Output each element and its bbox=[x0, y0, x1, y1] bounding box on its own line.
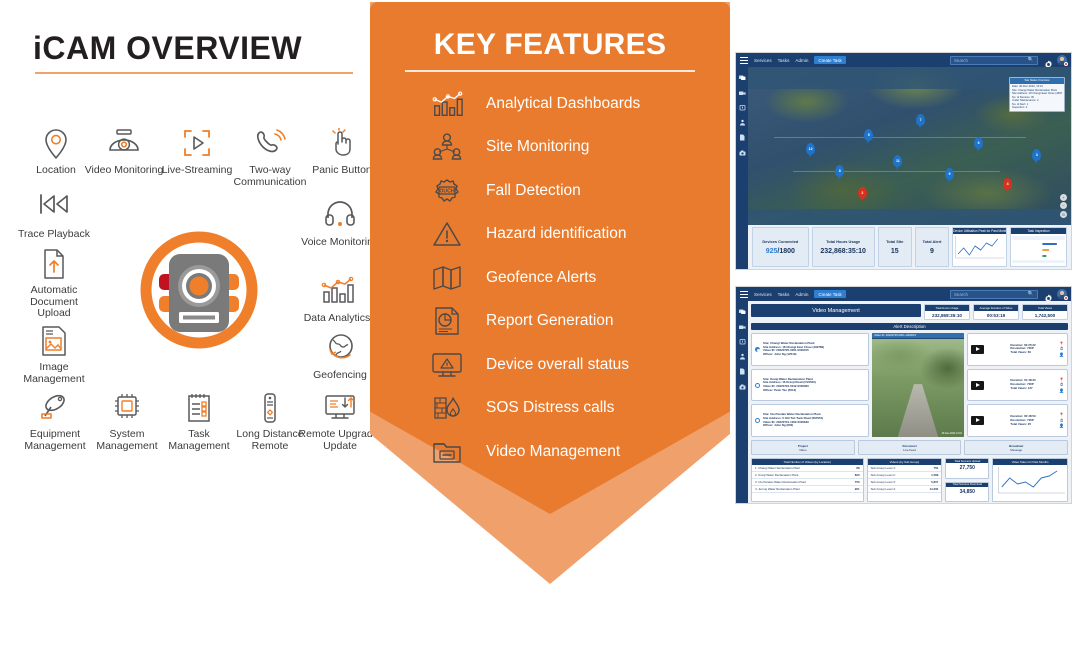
play-button[interactable] bbox=[971, 345, 984, 354]
feature-label: Equipment Management bbox=[24, 428, 85, 452]
button-line-2: Message bbox=[1010, 448, 1022, 452]
video-sidebar bbox=[736, 301, 748, 504]
video-meta-text: Duration: 00:48:59 Resolution: 720P Tota… bbox=[1010, 415, 1035, 426]
feature-label: Panic Button bbox=[312, 164, 372, 176]
create-task-button[interactable]: Create Task bbox=[814, 290, 845, 298]
action-button-row: Project Video Personnel Live Feed Broadc… bbox=[751, 440, 1068, 455]
warning-triangle-icon bbox=[430, 217, 464, 251]
screenshot-video-management: Services Tasks Admin Create Task Search … bbox=[735, 286, 1072, 504]
magnifier-icon: 🔍 bbox=[1028, 57, 1034, 63]
feature-label: Video Monitoring bbox=[85, 164, 164, 176]
avatar[interactable] bbox=[1057, 55, 1067, 65]
video-meta-list: Duration: 00:25:32 Resolution: 720P Tota… bbox=[967, 333, 1068, 437]
stat-total-site: Total Site 15 bbox=[878, 227, 912, 267]
button-line-2: Video bbox=[799, 448, 806, 452]
feature-automatic-document-upload: Automatic Document Upload bbox=[12, 248, 96, 320]
bottom-panels: Total Number of Videos (by Location) 1. … bbox=[751, 458, 1068, 502]
video-player[interactable]: Video ID: 20220725-0001-1000015 30-Dec-2… bbox=[872, 333, 964, 437]
stat-label: Devices Connected bbox=[762, 239, 798, 244]
key-feature-label: Hazard identification bbox=[486, 225, 626, 243]
alert-officer: Officer: Peter Tao (5012) bbox=[763, 388, 796, 392]
document-icon[interactable] bbox=[736, 130, 748, 145]
alert-officer: Officer: John Ng (12519) bbox=[763, 352, 796, 356]
key-feature-label: Analytical Dashboards bbox=[486, 95, 640, 113]
map-road-2 bbox=[793, 171, 1000, 172]
nav-link-tasks[interactable]: Tasks bbox=[778, 292, 790, 297]
nav-link-services[interactable]: Services bbox=[754, 292, 772, 297]
video-meta-text: Duration: 00:25:32 Resolution: 720P Tota… bbox=[1010, 344, 1035, 355]
utilisation-sparkline bbox=[953, 234, 1006, 264]
feature-label: Two-way Communication bbox=[234, 164, 307, 188]
alert-details: Site: Kranji Water Reclamation Plant Sit… bbox=[763, 378, 816, 393]
clock-icon[interactable]: ⏱ bbox=[1060, 383, 1063, 387]
key-feature-label: Video Management bbox=[486, 443, 620, 461]
row-name: Sub-Group Level 1: bbox=[871, 466, 896, 470]
user-icon[interactable]: 👤 bbox=[1059, 389, 1064, 393]
popup-row: Site Address: 18 Changi East Close (4997… bbox=[1012, 92, 1062, 96]
map-body: 128511796432 Site Status Overview Date: … bbox=[736, 67, 1071, 270]
overview-panel: iCAM OVERVIEW Location Video Monitoring … bbox=[0, 0, 372, 648]
key-feature-geofence-alerts: Geofence Alerts bbox=[370, 256, 730, 300]
kpi-total-hours-usage: Total Hours Usage 232,868:35:10 bbox=[924, 304, 970, 320]
clock-icon[interactable]: ⏱ bbox=[1060, 347, 1063, 351]
document-upload-icon bbox=[12, 248, 96, 282]
feature-label: Remote Upgrade/ Update bbox=[299, 428, 382, 452]
user-icon[interactable]: 👤 bbox=[1059, 424, 1064, 428]
alert-officer: Officer: John Ng (600) bbox=[763, 423, 793, 427]
camera-icon[interactable] bbox=[736, 379, 748, 394]
broadcast-message-button[interactable]: Broadcast Message bbox=[964, 440, 1068, 455]
feature-live-streaming: Live-Streaming bbox=[155, 128, 239, 177]
feature-label: System Management bbox=[96, 428, 157, 452]
kpi-value: 34,850 bbox=[946, 487, 988, 495]
user-icon[interactable]: 👤 bbox=[1059, 353, 1064, 357]
key-feature-device-overall-status: Device overall status bbox=[370, 343, 730, 387]
video-meta-card: Duration: 00:48:59 Resolution: 720P Tota… bbox=[967, 404, 1068, 437]
notification-badge bbox=[1064, 296, 1068, 300]
image-document-icon bbox=[12, 325, 96, 359]
panel-device-utilisation: Device Utilisation Peak for Past Months bbox=[952, 227, 1007, 267]
folded-map-icon bbox=[430, 261, 464, 295]
map-top-nav: Services Tasks Admin Create Task Search … bbox=[736, 53, 1071, 67]
map-canvas[interactable]: 128511796432 Site Status Overview Date: … bbox=[748, 67, 1071, 225]
map-zoom-out-button[interactable]: − bbox=[1060, 202, 1067, 209]
radio-button[interactable] bbox=[755, 383, 760, 388]
video-top-nav: Services Tasks Admin Create Task Search … bbox=[736, 287, 1071, 301]
video-taken-sparkline bbox=[993, 465, 1067, 499]
location-pin-icon[interactable]: 📍 bbox=[1059, 413, 1064, 417]
feature-label: Geofencing bbox=[313, 369, 367, 381]
video-header-row: Video Management Total Hours Usage 232,8… bbox=[748, 301, 1071, 323]
feature-label: Data Analytics bbox=[304, 312, 371, 324]
row-value: 750 bbox=[933, 466, 938, 470]
table-row: 3. Ulu Pandan Water Reclamation Plant756 bbox=[752, 479, 863, 486]
table-videos-by-subgroup: Videos (by Sub-Group) Sub-Group Level 1:… bbox=[867, 458, 943, 502]
page-title: Video Management bbox=[751, 304, 921, 317]
table-row: 2. Kranji Water Reclamation Plant820 bbox=[752, 472, 863, 479]
video-body: Video Management Total Hours Usage 232,8… bbox=[736, 301, 1071, 504]
nav-link-tasks[interactable]: Tasks bbox=[778, 58, 790, 63]
kpi-total-success-download: Total Success Download 34,850 bbox=[945, 482, 989, 503]
map-pin[interactable]: 2 bbox=[858, 187, 867, 199]
map-road-1 bbox=[774, 137, 1026, 138]
kpi-value: 00:53:19 bbox=[974, 311, 1018, 319]
avatar[interactable] bbox=[1057, 289, 1067, 299]
page-title: iCAM OVERVIEW bbox=[33, 30, 302, 67]
stat-value: 15 bbox=[891, 248, 899, 255]
avatar-head bbox=[1060, 57, 1064, 61]
video-timestamp: 30-Dec-2022 13:01 bbox=[942, 432, 962, 435]
feature-label: Voice Monitoring bbox=[301, 236, 379, 248]
map-sidebar bbox=[736, 67, 748, 270]
table-row: Sub-Group Level 2:1,589 bbox=[868, 472, 942, 479]
key-feature-analytical-dashboards: Analytical Dashboards bbox=[370, 82, 730, 126]
personnel-live-feed-button[interactable]: Personnel Live Feed bbox=[858, 440, 962, 455]
key-feature-video-management: Video Management bbox=[370, 430, 730, 474]
kpi-total-views: Total Views 1,742,500 bbox=[1022, 304, 1068, 320]
location-pin-icon[interactable]: 📍 bbox=[1059, 378, 1064, 382]
kpi-value: 1,742,500 bbox=[1023, 311, 1067, 319]
search-input[interactable]: Search 🔍 bbox=[950, 56, 1038, 65]
key-feature-report-generation: Report Generation bbox=[370, 300, 730, 344]
row-name: Sub-Group Level 2: bbox=[871, 473, 896, 477]
stat-label: Total Alert bbox=[923, 239, 942, 244]
radio-button[interactable] bbox=[755, 418, 760, 423]
row-value: 1,589 bbox=[931, 473, 938, 477]
stat-total-hours-usage: Total Hours Usage 232,868:35:10 bbox=[812, 227, 875, 267]
nav-link-admin[interactable]: Admin bbox=[795, 292, 808, 297]
map-locate-button[interactable]: ⊙ bbox=[1060, 211, 1067, 218]
row-value: 901 bbox=[855, 487, 860, 491]
map-pin[interactable]: 7 bbox=[916, 114, 925, 126]
alert-details: Site: Changi Water Reclamation Plant Sit… bbox=[763, 342, 824, 357]
row-value: 756 bbox=[855, 480, 860, 484]
feature-video-monitoring: Video Monitoring bbox=[82, 128, 166, 177]
kpi-value: 232,868:35:10 bbox=[925, 311, 969, 319]
key-feature-label: Report Generation bbox=[486, 312, 614, 330]
map-pin[interactable]: 12 bbox=[806, 143, 815, 155]
key-feature-sos-distress-calls: SOS Distress calls bbox=[370, 387, 730, 431]
map-zoom-in-button[interactable]: + bbox=[1060, 194, 1067, 201]
chat-icon[interactable] bbox=[736, 304, 748, 319]
create-task-button[interactable]: Create Task bbox=[814, 56, 845, 64]
ouch-impact-icon: OUCH bbox=[430, 174, 464, 208]
feature-label: Image Management bbox=[23, 361, 84, 385]
popup-body: Date: 30-Dec-2022, 13:01 Site: Changi Wa… bbox=[1010, 84, 1064, 112]
alert-box-icon[interactable] bbox=[736, 100, 748, 115]
inspection-table-graphic bbox=[1011, 234, 1066, 264]
video-views: Total Views: 25 bbox=[1010, 422, 1031, 426]
popup-row: Inspection: 2 bbox=[1012, 106, 1062, 110]
video-player-header: Video ID: 20220725-0001-1000015 bbox=[872, 333, 964, 338]
alert-description-header: Alert Description bbox=[751, 323, 1068, 330]
feature-label: Long Distance Remote bbox=[236, 428, 303, 452]
video-views: Total Views: 60 bbox=[1010, 350, 1031, 354]
fire-wall-icon bbox=[430, 391, 464, 425]
stat-value: 9 bbox=[930, 248, 934, 255]
video-meta-icons: 📍 ⏱ 👤 bbox=[1059, 413, 1064, 428]
key-feature-label: Geofence Alerts bbox=[486, 269, 596, 287]
gear-icon[interactable] bbox=[1044, 56, 1053, 65]
video-meta-icons: 📍 ⏱ 👤 bbox=[1059, 342, 1064, 357]
nav-link-services[interactable]: Services bbox=[754, 58, 772, 63]
row-name: Sub-Group Level 3: bbox=[871, 480, 896, 484]
feature-trace-playback: Trace Playback bbox=[12, 192, 96, 241]
video-road bbox=[898, 384, 938, 437]
row-name: Sub-Group Level 4: bbox=[871, 487, 896, 491]
table-row: 4. Jurong Water Reclamation Plant901 bbox=[752, 486, 863, 493]
feature-label: Trace Playback bbox=[18, 228, 90, 240]
location-pin-icon[interactable]: 📍 bbox=[1059, 342, 1064, 346]
table-videos-by-location: Total Number of Videos (by Location) 1. … bbox=[751, 458, 864, 502]
key-feature-label: SOS Distress calls bbox=[486, 399, 614, 417]
kpi-average-duration: Average Duration of Video 00:53:19 bbox=[973, 304, 1019, 320]
alert-list: Site: Changi Water Reclamation Plant Sit… bbox=[751, 333, 869, 437]
rewind-icon bbox=[12, 192, 96, 226]
chat-icon[interactable] bbox=[736, 70, 748, 85]
panel-video-taken-chart: Video Taken for Past Months bbox=[992, 458, 1068, 502]
camera-video-icon[interactable] bbox=[736, 85, 748, 100]
row-name: 3. Ulu Pandan Water Reclamation Plant bbox=[755, 480, 806, 484]
map-pin[interactable]: 8 bbox=[835, 165, 844, 177]
stat-value: 232,868:35:10 bbox=[820, 248, 866, 255]
key-feature-label: Device overall status bbox=[486, 356, 629, 374]
camera-icon[interactable] bbox=[736, 145, 748, 160]
row-value: 820 bbox=[855, 473, 860, 477]
bar-chart-line-icon bbox=[298, 276, 376, 310]
feature-image-management: Image Management bbox=[12, 325, 96, 385]
table-row: 1. Changi Water Reclamation Plant88 bbox=[752, 465, 863, 472]
alert-details: Site: Ulu Pandan Water Reclamation Plant… bbox=[763, 413, 823, 428]
stat-total-alert: Total Alert 9 bbox=[915, 227, 949, 267]
user-lock-icon[interactable] bbox=[736, 115, 748, 130]
screenshot-map-dashboard: Services Tasks Admin Create Task Search … bbox=[735, 52, 1072, 270]
key-features-list: Analytical Dashboards Site Monitoring OU… bbox=[370, 82, 730, 474]
row-name: 1. Changi Water Reclamation Plant bbox=[755, 466, 800, 470]
table-row: Sub-Group Level 1:750 bbox=[868, 465, 942, 472]
alert-main-area: Site: Changi Water Reclamation Plant Sit… bbox=[751, 333, 1068, 437]
title-underline bbox=[35, 72, 353, 74]
map-stats-row: Devices Connected 925/1800 Total Hours U… bbox=[752, 227, 1067, 267]
key-feature-fall-detection: OUCH Fall Detection bbox=[370, 169, 730, 213]
project-video-button[interactable]: Project Video bbox=[751, 440, 855, 455]
search-placeholder: Search bbox=[954, 292, 968, 297]
key-feature-label: Fall Detection bbox=[486, 182, 581, 200]
notification-badge bbox=[1064, 62, 1068, 66]
map-pin[interactable]: 9 bbox=[945, 168, 954, 180]
map-pin[interactable]: 6 bbox=[974, 137, 983, 149]
kpi-value: 27,750 bbox=[946, 463, 988, 471]
row-name: 2. Kranji Water Reclamation Plant bbox=[755, 473, 798, 477]
feature-label: Live-Streaming bbox=[162, 164, 233, 176]
monitor-warning-icon bbox=[430, 348, 464, 382]
search-placeholder: Search bbox=[954, 58, 968, 63]
success-kpi-column: Total Success Upload 27,750 Total Succes… bbox=[945, 458, 989, 502]
video-meta-icons: 📍 ⏱ 👤 bbox=[1059, 378, 1064, 393]
stat-devices-connected: Devices Connected 925/1800 bbox=[752, 227, 809, 267]
button-line-2: Live Feed bbox=[903, 448, 916, 452]
bar-chart-line-icon bbox=[430, 87, 464, 121]
clock-icon[interactable]: ⏱ bbox=[1060, 419, 1063, 423]
people-network-icon bbox=[430, 130, 464, 164]
map-water-bottom bbox=[748, 209, 1071, 225]
map-pin[interactable]: 4 bbox=[1003, 178, 1012, 190]
video-meta-card: Duration: 00:25:32 Resolution: 720P Tota… bbox=[967, 333, 1068, 366]
avatar-head bbox=[1060, 291, 1064, 295]
video-folder-icon bbox=[430, 435, 464, 469]
svg-text:OUCH: OUCH bbox=[439, 188, 455, 194]
key-features-underline bbox=[405, 70, 695, 72]
alert-box-icon[interactable] bbox=[736, 334, 748, 349]
video-meta-card: Duration: 01:48:30 Resolution: 720P Tota… bbox=[967, 369, 1068, 402]
play-frame-icon bbox=[155, 128, 239, 162]
table-row: Sub-Group Level 4:14,300 bbox=[868, 486, 942, 493]
map-controls[interactable]: + − ⊙ bbox=[1060, 194, 1067, 220]
radio-button[interactable] bbox=[755, 347, 760, 352]
play-button[interactable] bbox=[971, 416, 984, 425]
camera-video-icon[interactable] bbox=[736, 319, 748, 334]
video-frame bbox=[872, 339, 964, 437]
feature-label: Task Management bbox=[168, 428, 229, 452]
stat-label: Total Site bbox=[886, 239, 903, 244]
row-value: 5,807 bbox=[931, 480, 938, 484]
feature-data-analytics: Data Analytics bbox=[298, 276, 376, 325]
search-input[interactable]: Search 🔍 bbox=[950, 290, 1038, 299]
list-item[interactable]: Site: Changi Water Reclamation Plant Sit… bbox=[751, 333, 869, 366]
stat-value: 925/1800 bbox=[766, 248, 795, 255]
row-name: 4. Jurong Water Reclamation Plant bbox=[755, 487, 800, 491]
hamburger-icon[interactable] bbox=[740, 291, 748, 298]
feature-label: Location bbox=[36, 164, 76, 176]
video-meta-text: Duration: 01:48:30 Resolution: 720P Tota… bbox=[1010, 379, 1035, 390]
gear-icon[interactable] bbox=[1044, 290, 1053, 299]
video-content: Video Management Total Hours Usage 232,8… bbox=[748, 301, 1071, 504]
document-icon[interactable] bbox=[736, 364, 748, 379]
hamburger-icon[interactable] bbox=[740, 57, 748, 64]
list-item[interactable]: Site: Ulu Pandan Water Reclamation Plant… bbox=[751, 404, 869, 437]
key-features-title: KEY FEATURES bbox=[370, 28, 730, 62]
kpi-total-success-upload: Total Success Upload 27,750 bbox=[945, 458, 989, 479]
nav-link-admin[interactable]: Admin bbox=[795, 58, 808, 63]
body-camera-device bbox=[137, 228, 261, 352]
key-feature-site-monitoring: Site Monitoring bbox=[370, 126, 730, 170]
map-content: 128511796432 Site Status Overview Date: … bbox=[748, 67, 1071, 270]
row-value: 14,300 bbox=[929, 487, 938, 491]
video-views: Total Views: 137 bbox=[1010, 386, 1032, 390]
user-lock-icon[interactable] bbox=[736, 349, 748, 364]
kpi-label: Total Success Download bbox=[946, 483, 988, 487]
site-status-popup: Site Status Overview Date: 30-Dec-2022, … bbox=[1009, 77, 1065, 112]
key-feature-label: Site Monitoring bbox=[486, 138, 589, 156]
report-piechart-icon bbox=[430, 304, 464, 338]
panel-task-inspection: Task Inspection bbox=[1010, 227, 1067, 267]
row-value: 88 bbox=[856, 466, 859, 470]
list-item[interactable]: Site: Kranji Water Reclamation Plant Sit… bbox=[751, 369, 869, 402]
play-button[interactable] bbox=[971, 381, 984, 390]
table-row: Sub-Group Level 3:5,807 bbox=[868, 479, 942, 486]
key-features-panel: KEY FEATURES Analytical Dashboards Site … bbox=[370, 0, 730, 600]
stat-label: Total Hours Usage bbox=[826, 239, 860, 244]
dome-camera-icon bbox=[82, 128, 166, 162]
key-feature-hazard-identification: Hazard identification bbox=[370, 213, 730, 257]
feature-label: Automatic Document Upload bbox=[30, 284, 78, 319]
magnifier-icon: 🔍 bbox=[1028, 291, 1034, 297]
